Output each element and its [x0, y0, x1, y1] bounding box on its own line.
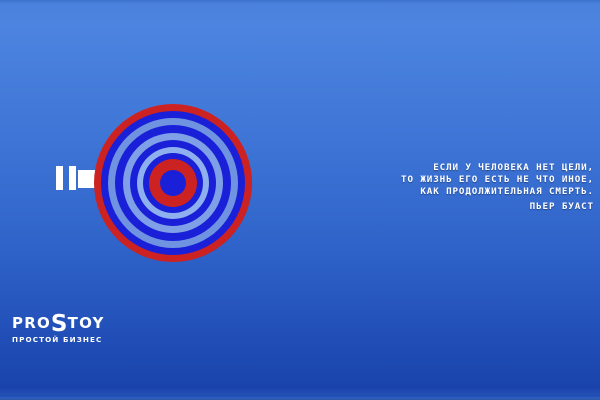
bullseye-target: [94, 104, 252, 262]
quote-author: ПЬЕР БУАСТ: [326, 201, 594, 213]
quote-line-3: КАК ПРОДОЛЖИТЕЛЬНАЯ СМЕРТЬ.: [326, 186, 594, 198]
poster-canvas: ЕСЛИ У ЧЕЛОВЕКА НЕТ ЦЕЛИ, ТО ЖИЗНЬ ЕГО Е…: [0, 0, 600, 400]
bottom-edge-band: [0, 395, 600, 400]
quote-line-2: ТО ЖИЗНЬ ЕГО ЕСТЬ НЕ ЧТО ИНОЕ,: [326, 174, 594, 186]
logo-word-pre: PRO: [12, 314, 51, 332]
bullseye-center: [160, 170, 186, 196]
logo-wordmark: PROSTOY: [12, 313, 117, 334]
speed-line-icon: [56, 166, 63, 190]
logo-word-s: S: [51, 317, 69, 332]
logo-word-post: TOY: [68, 314, 105, 332]
brand-logo[interactable]: PROSTOY ПРОСТОЙ БИЗНЕС: [12, 313, 117, 351]
top-edge-band: [0, 0, 600, 4]
quote-block: ЕСЛИ У ЧЕЛОВЕКА НЕТ ЦЕЛИ, ТО ЖИЗНЬ ЕГО Е…: [326, 162, 594, 213]
quote-line-1: ЕСЛИ У ЧЕЛОВЕКА НЕТ ЦЕЛИ,: [326, 162, 594, 174]
speed-line-icon: [69, 166, 76, 190]
